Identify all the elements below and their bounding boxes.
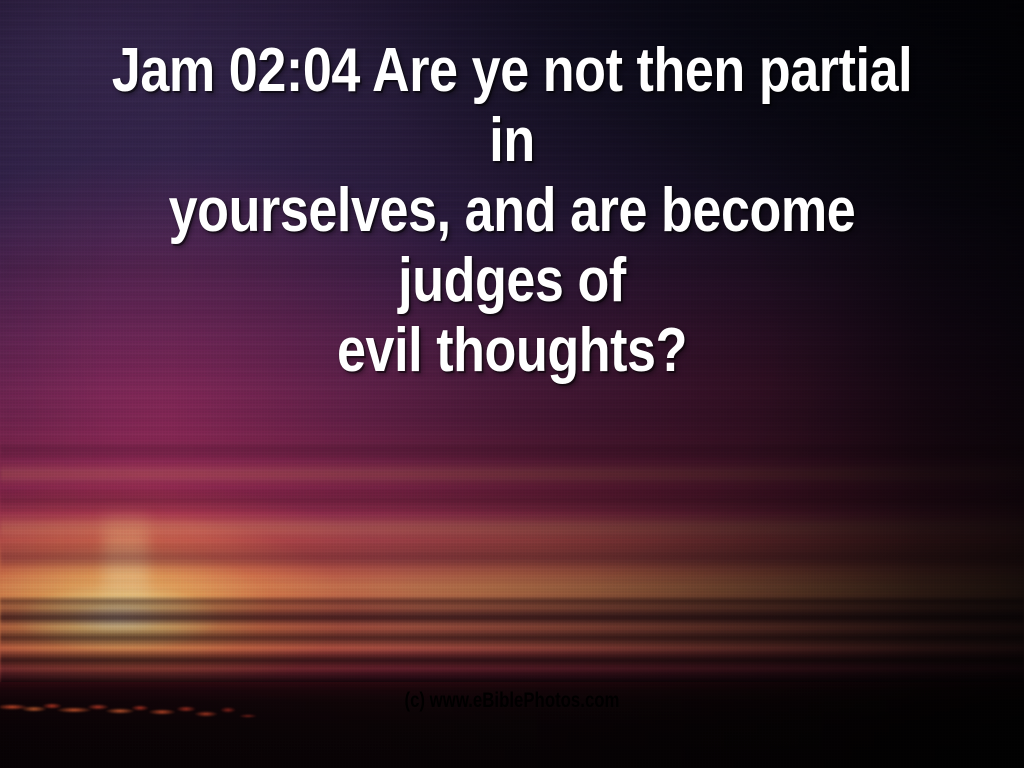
sunset-verse-image: Jam 02:04 Are ye not then partial in you… <box>0 0 1024 768</box>
verse-text-overlay: Jam 02:04 Are ye not then partial in you… <box>82 36 942 386</box>
horizontal-cloud-bands <box>0 440 1024 700</box>
sun-pillar <box>104 505 148 625</box>
verse-line-2: yourselves, and are become judges of <box>102 176 922 316</box>
verse-line-3: evil thoughts? <box>102 316 922 386</box>
copyright-watermark: (c) www.eBiblePhotos.com <box>102 690 921 711</box>
verse-line-1: Jam 02:04 Are ye not then partial in <box>102 36 922 176</box>
horizon-cloud-ribs <box>0 596 1024 692</box>
